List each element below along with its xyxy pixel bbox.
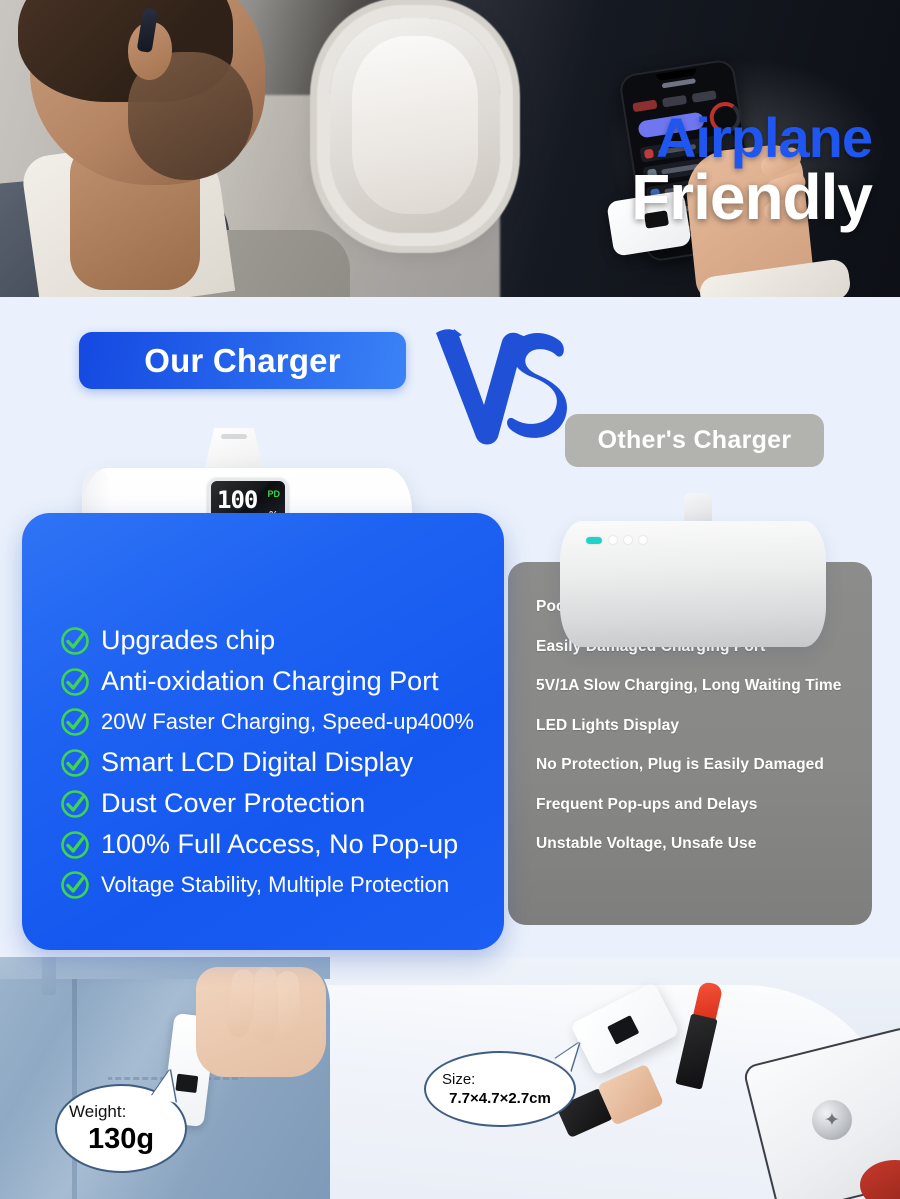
jeans-belt-loop [42,957,56,995]
feature-label: Anti-oxidation Charging Port [101,666,439,697]
hero-photo-section: Airplane Friendly [0,0,900,297]
size-value: 7.7×4.7×2.7cm [449,1090,551,1107]
phone-app-title [662,78,696,88]
check-circle-icon [60,707,90,737]
other-charger-badge-label: Other's Charger [598,426,792,455]
check-circle-icon [60,667,90,697]
drawback-item: 5V/1A Slow Charging, Long Waiting Time [536,677,872,695]
hero-title-line1: Airplane [631,112,872,164]
weight-value: 130g [88,1123,154,1156]
phone-chip-1 [632,100,657,113]
led-indicator [609,536,617,544]
led-indicator [639,536,647,544]
led-indicator-on [586,537,602,544]
feature-item: 100% Full Access, No Pop-up [60,829,500,860]
our-charger-plug-slot [221,434,247,439]
drawback-item: No Protection, Plug is Easily Damaged [536,756,872,774]
weight-callout-bubble: Weight: 130g [55,1084,187,1173]
lcd-battery-value: 100 [217,488,257,512]
feature-item: Anti-oxidation Charging Port [60,666,500,697]
phone-chip-3 [692,90,717,103]
check-circle-icon [60,626,90,656]
size-label: Size: [442,1071,475,1088]
weight-label: Weight: [69,1102,126,1122]
check-circle-icon [60,870,90,900]
feature-label: Smart LCD Digital Display [101,747,413,778]
hero-title: Airplane Friendly [631,112,872,226]
our-charger-badge-label: Our Charger [144,342,341,380]
feature-item: Voltage Stability, Multiple Protection [60,870,500,900]
check-circle-icon [60,830,90,860]
hero-title-line2: Friendly [631,168,872,227]
other-charger-badge: Other's Charger [565,414,824,467]
led-indicator [624,536,632,544]
finger [253,967,278,1044]
finger [276,970,302,1041]
check-circle-icon [60,748,90,778]
our-charger-badge: Our Charger [79,332,406,389]
other-charger-led-indicators [586,536,647,544]
versus-icon [432,327,570,447]
feature-item: 20W Faster Charging, Speed-up400% [60,707,500,737]
feature-label: 100% Full Access, No Pop-up [101,829,458,860]
feature-label: Dust Cover Protection [101,788,365,819]
our-charger-feature-list: Upgrades chip Anti-oxidation Charging Po… [60,625,500,910]
drawback-item: Frequent Pop-ups and Delays [536,796,872,814]
bag-emblem-icon: ✦ [812,1100,852,1140]
feature-item: Dust Cover Protection [60,788,500,819]
lcd-pd-badge: PD [267,489,280,499]
drawback-item: LED Lights Display [536,717,872,735]
feature-label: 20W Faster Charging, Speed-up400% [101,709,474,735]
check-circle-icon [60,789,90,819]
feature-item: Smart LCD Digital Display [60,747,500,778]
feature-label: Upgrades chip [101,625,275,656]
product-infographic: Airplane Friendly Poor Chip Will Damage … [0,0,900,1199]
feature-label: Voltage Stability, Multiple Protection [101,872,449,898]
size-callout-bubble: Size: 7.7×4.7×2.7cm [424,1051,576,1127]
feature-item: Upgrades chip [60,625,500,656]
airplane-window-glass [352,36,478,214]
drawback-item: Unstable Voltage, Unsafe Use [536,835,872,853]
